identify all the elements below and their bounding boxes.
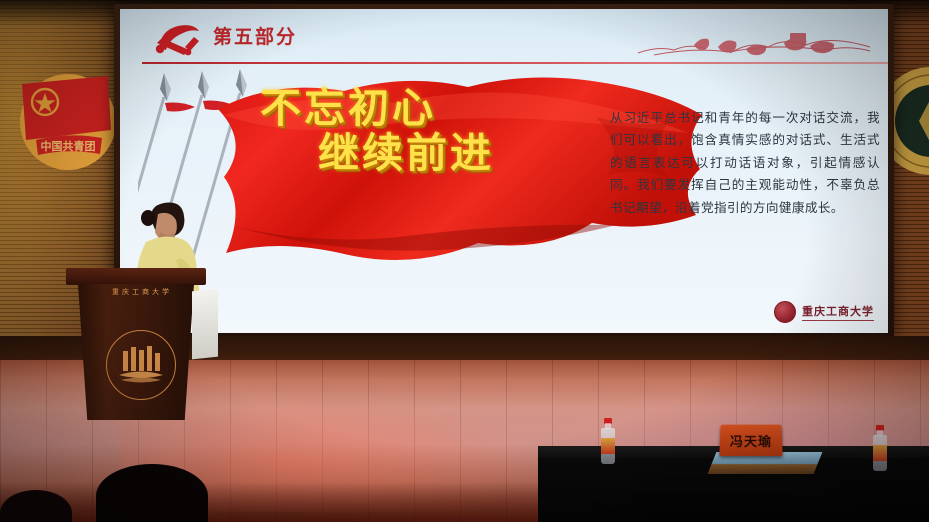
podium-top-surface: [66, 268, 206, 285]
auditorium-scene: 中国共青团 第五部分: [0, 0, 929, 522]
university-logo: 重庆工商大学: [774, 301, 874, 323]
slide-header: 第五部分: [120, 9, 888, 63]
presentation-slide: 第五部分: [120, 9, 888, 333]
slide-body-text: 从习近平总书记和青年的每一次对话交流，我们可以看出，饱含真情实感的对话式、生活式…: [610, 107, 880, 219]
bottle-label: [873, 445, 887, 461]
great-wall-line-art: [634, 13, 874, 61]
communist-youth-league-emblem: 中国共青团: [12, 56, 124, 181]
svg-text:中国共青团: 中国共青团: [41, 139, 96, 153]
hammer-sickle-icon: [149, 17, 205, 57]
podium-crest-icon: [106, 330, 176, 400]
name-placard: 冯天瑜: [719, 425, 783, 456]
water-bottle-left: [600, 418, 616, 464]
university-name: 重庆工商大学: [802, 303, 874, 321]
university-seal-icon: [774, 301, 796, 323]
slide-headline: 不忘初心 继续前进: [260, 87, 494, 174]
podium-notes-paper: [192, 289, 218, 360]
audience-silhouette-1: [96, 464, 208, 522]
headline-line-1: 不忘初心: [260, 84, 436, 132]
podium-body: 重庆工商大学: [78, 284, 194, 420]
bottle-label: [601, 438, 615, 454]
speaking-podium: 重庆工商大学: [72, 268, 200, 420]
led-screen-frame: 第五部分: [114, 4, 894, 339]
headline-line-2: 继续前进: [318, 132, 494, 175]
water-bottle-right: [872, 425, 888, 471]
slide-section-title: 第五部分: [213, 22, 297, 49]
placard-name-text: 冯天瑜: [719, 425, 783, 456]
podium-university-text: 重庆工商大学: [96, 287, 188, 297]
